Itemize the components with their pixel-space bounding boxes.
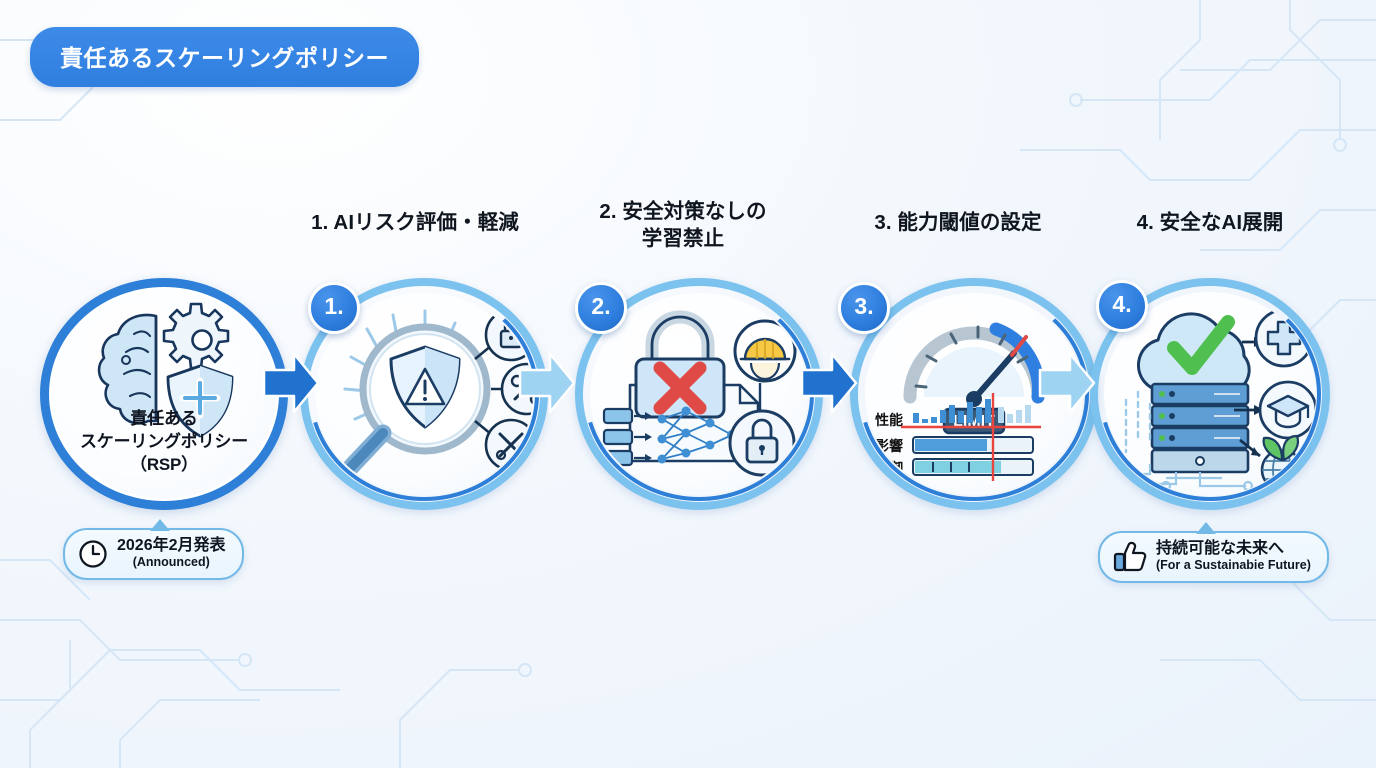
step-1-title-line-1: 1. AIリスク評価・軽減 bbox=[285, 209, 545, 236]
arrow-3-to-4 bbox=[1038, 352, 1096, 414]
arrow-2-to-3 bbox=[800, 352, 858, 414]
meter-label-0: 性能 bbox=[875, 412, 903, 428]
thumbs-up-icon bbox=[1113, 541, 1147, 573]
node-step-2-inner bbox=[590, 293, 808, 495]
callout-future[interactable]: 持続可能な未来へ (For a Sustainabie Future) bbox=[1098, 531, 1329, 583]
callout-announced-en: (Announced) bbox=[117, 555, 226, 570]
node-rsp-label-line-3: （RSP） bbox=[52, 453, 276, 476]
node-rsp-inner: 責任ある スケーリングポリシー （RSP） bbox=[52, 290, 276, 498]
step-3-title-line-1: 3. 能力閾値の設定 bbox=[838, 209, 1078, 236]
step-4-title: 4. 安全なAI展開 bbox=[1110, 209, 1310, 236]
node-rsp-label: 責任ある スケーリングポリシー （RSP） bbox=[52, 407, 276, 476]
clock-icon bbox=[78, 539, 108, 569]
callout-announced-text: 2026年2月発表 (Announced) bbox=[117, 537, 226, 570]
callout-announced[interactable]: 2026年2月発表 (Announced) bbox=[63, 528, 244, 580]
callout-announced-pointer bbox=[150, 519, 170, 531]
gear-icon bbox=[164, 304, 228, 368]
callout-future-en: (For a Sustainabie Future) bbox=[1156, 558, 1311, 573]
arrow-0-to-1 bbox=[262, 352, 320, 414]
graduation-cap-circle-icon bbox=[1260, 382, 1316, 438]
data-rain-decoration bbox=[1126, 392, 1150, 452]
step-4-title-line-1: 4. 安全なAI展開 bbox=[1110, 209, 1310, 236]
callout-future-pointer bbox=[1196, 522, 1216, 534]
histogram-bars bbox=[913, 399, 1031, 423]
callout-future-jp: 持続可能な未来へ bbox=[1156, 540, 1311, 558]
node-rsp[interactable]: 責任ある スケーリングポリシー （RSP） bbox=[40, 278, 288, 510]
node-rsp-label-line-1: 責任ある bbox=[52, 407, 276, 430]
step-2-title: 2. 安全対策なしの 学習禁止 bbox=[563, 198, 803, 252]
step-3-badge: 3. bbox=[838, 282, 890, 334]
step-1-badge: 1. bbox=[308, 282, 360, 334]
padlock-icon bbox=[636, 317, 724, 417]
step-2-badge: 2. bbox=[575, 282, 627, 334]
server-rack-icon bbox=[1152, 384, 1248, 472]
callout-announced-jp: 2026年2月発表 bbox=[117, 537, 226, 555]
step-4-badge: 4. bbox=[1096, 280, 1148, 332]
step-2-title-line-2: 学習禁止 bbox=[563, 225, 803, 252]
no-unsafe-training-illustration bbox=[590, 293, 808, 495]
step-1-title: 1. AIリスク評価・軽減 bbox=[285, 209, 545, 236]
threshold-bars-icon: 性能 影響 bbox=[875, 393, 1041, 481]
node-rsp-label-line-2: スケーリングポリシー bbox=[52, 430, 276, 453]
page-title-pill: 責任あるスケーリングポリシー bbox=[30, 27, 419, 87]
callout-future-text: 持続可能な未来へ (For a Sustainabie Future) bbox=[1156, 540, 1311, 573]
arrow-1-to-2 bbox=[518, 352, 576, 414]
step-2-title-line-1: 2. 安全対策なしの bbox=[563, 198, 803, 225]
step-3-title: 3. 能力閾値の設定 bbox=[838, 209, 1078, 236]
